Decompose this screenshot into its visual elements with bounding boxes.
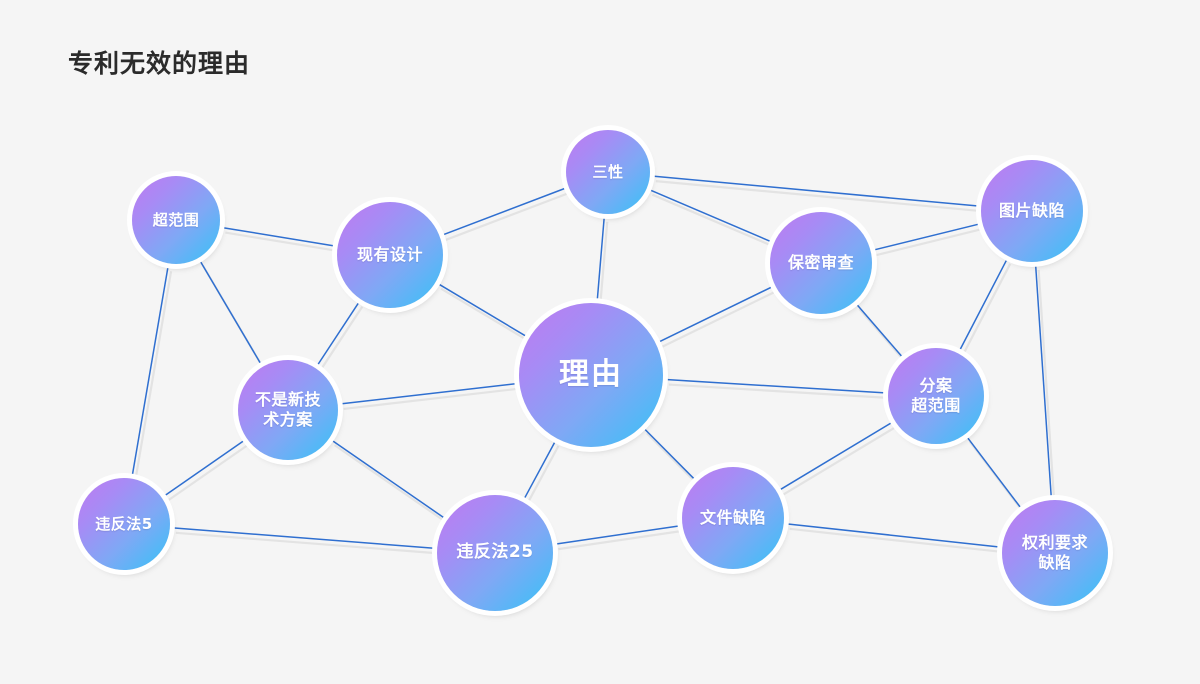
graph-node-bushixinjishu[interactable]: 不是新技 术方案 xyxy=(238,360,338,460)
graph-nodes-layer: 理由三性现有设计超范围不是新技 术方案违反法5违反法25文件缺陷保密审查图片缺陷… xyxy=(0,0,1200,684)
graph-node-sanxing[interactable]: 三性 xyxy=(566,130,650,214)
graph-node-quanliyaoqiu[interactable]: 权利要求 缺陷 xyxy=(1002,500,1108,606)
graph-node-reason[interactable]: 理由 xyxy=(519,303,663,447)
graph-node-tupianquexian[interactable]: 图片缺陷 xyxy=(981,160,1083,262)
graph-node-chaofanwei[interactable]: 超范围 xyxy=(132,176,220,264)
graph-node-label: 违反法25 xyxy=(456,542,533,563)
graph-node-label: 文件缺陷 xyxy=(700,508,766,528)
graph-node-label: 理由 xyxy=(559,356,623,394)
diagram-page: 专利无效的理由 理由三性现有设计超范围不是新技 术方案违反法5违反法25文件缺陷… xyxy=(0,0,1200,684)
graph-node-label: 分案 超范围 xyxy=(911,376,961,416)
graph-node-label: 权利要求 缺陷 xyxy=(1022,533,1088,573)
graph-node-label: 保密审查 xyxy=(788,253,854,273)
graph-node-wenjianquexian[interactable]: 文件缺陷 xyxy=(682,467,784,569)
graph-node-weifanfa25[interactable]: 违反法25 xyxy=(437,495,553,611)
graph-node-label: 违反法5 xyxy=(95,515,152,534)
graph-node-xianyousheji[interactable]: 现有设计 xyxy=(337,202,443,308)
graph-node-label: 超范围 xyxy=(153,211,200,230)
graph-node-weifanfa5[interactable]: 违反法5 xyxy=(78,478,170,570)
graph-node-label: 现有设计 xyxy=(357,245,423,265)
graph-node-label: 不是新技 术方案 xyxy=(255,390,321,430)
graph-node-label: 三性 xyxy=(592,163,623,182)
graph-node-fenanchaofanwei[interactable]: 分案 超范围 xyxy=(888,348,984,444)
graph-node-baomishencha[interactable]: 保密审查 xyxy=(770,212,872,314)
graph-node-label: 图片缺陷 xyxy=(999,201,1065,221)
